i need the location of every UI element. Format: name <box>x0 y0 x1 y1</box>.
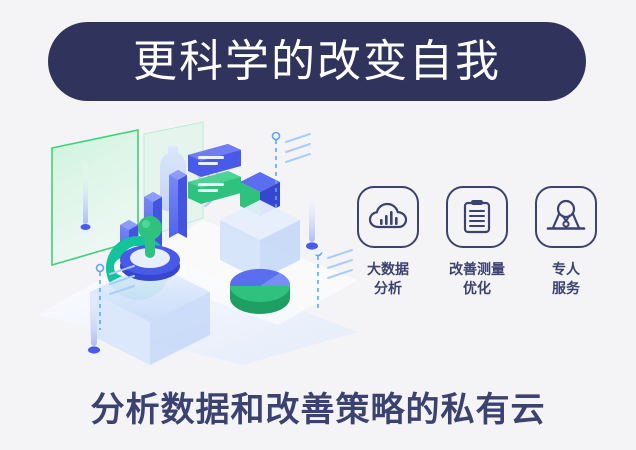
feature-item-measurement[interactable]: 改善测量 优化 <box>437 186 517 298</box>
header-banner: 更科学的改变自我 <box>48 22 586 101</box>
pie-chart-3d <box>230 269 290 314</box>
bar-3 <box>169 170 187 238</box>
service-person-icon <box>535 186 597 248</box>
illustration-isometric-scene <box>28 120 358 365</box>
feature-label-service: 专人 服务 <box>552 260 580 298</box>
pin-marker-right <box>301 188 323 255</box>
feature-label-big-data: 大数据 分析 <box>367 260 409 298</box>
tagline: 分析数据和改善策略的私有云 <box>0 382 636 431</box>
cloud-bar-chart-icon <box>357 186 419 248</box>
feature-list: 大数据 分析 改善测量 优化 <box>348 186 606 331</box>
feature-item-service[interactable]: 专人 服务 <box>526 186 606 298</box>
poster-canvas: 更科学的改变自我 <box>0 0 636 450</box>
feature-item-big-data[interactable]: 大数据 分析 <box>348 186 428 298</box>
feature-label-measurement: 改善测量 优化 <box>449 260 505 298</box>
page-title: 更科学的改变自我 <box>133 40 501 84</box>
clipboard-lines-icon <box>446 186 508 248</box>
